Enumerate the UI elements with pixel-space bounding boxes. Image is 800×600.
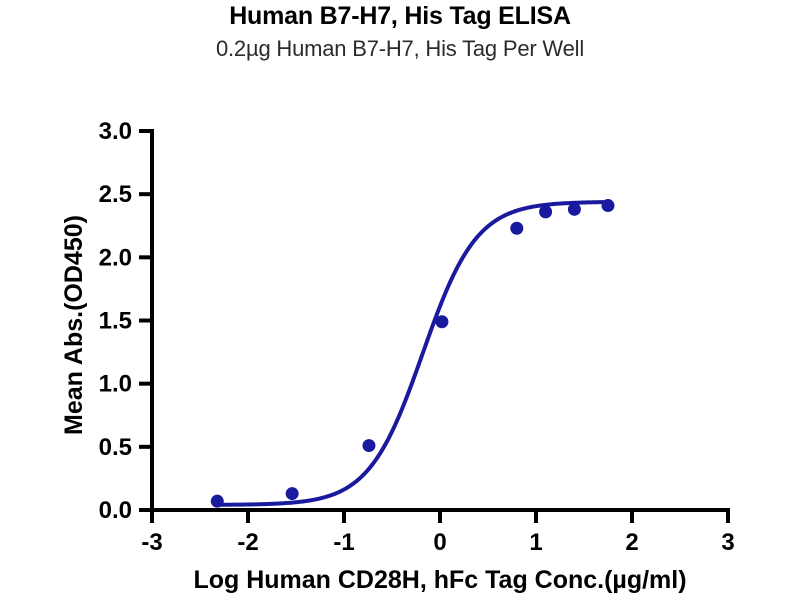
series-curve	[217, 202, 608, 505]
data-point	[211, 495, 224, 508]
x-axis-title: Log Human CD28H, hFc Tag Conc.(µg/ml)	[193, 566, 686, 594]
x-tick-label: -1	[333, 529, 354, 556]
y-tick-label: 1.0	[99, 371, 132, 398]
x-tick-labels: -3-2-10123	[141, 529, 734, 556]
y-tick-label: 1.5	[99, 308, 132, 335]
series-data-points	[211, 199, 615, 508]
y-tick-labels: 0.00.51.01.52.02.53.0	[99, 118, 132, 524]
chart-figure: Human B7-H7, His Tag ELISA 0.2µg Human B…	[0, 0, 800, 600]
y-tick-label: 2.5	[99, 181, 132, 208]
x-tick-label: 2	[625, 529, 638, 556]
x-tick-label: -2	[237, 529, 258, 556]
data-point	[602, 199, 615, 212]
y-tick-label: 0.5	[99, 434, 132, 461]
y-axis-title: Mean Abs.(OD450)	[60, 215, 88, 435]
x-tick-label: 0	[433, 529, 446, 556]
y-tick-label: 2.0	[99, 244, 132, 271]
data-point	[286, 487, 299, 500]
x-tick-label: -3	[141, 529, 162, 556]
x-tick-label: 3	[721, 529, 734, 556]
plot-area: 0.00.51.01.52.02.53.0 -3-2-10123 Mean Ab…	[0, 0, 800, 600]
data-point	[435, 315, 448, 328]
data-point	[510, 222, 523, 235]
data-point	[362, 439, 375, 452]
data-point	[539, 205, 552, 218]
y-tick-label: 0.0	[99, 497, 132, 524]
y-tick-label: 3.0	[99, 118, 132, 145]
data-point	[568, 203, 581, 216]
x-tick-label: 1	[529, 529, 542, 556]
